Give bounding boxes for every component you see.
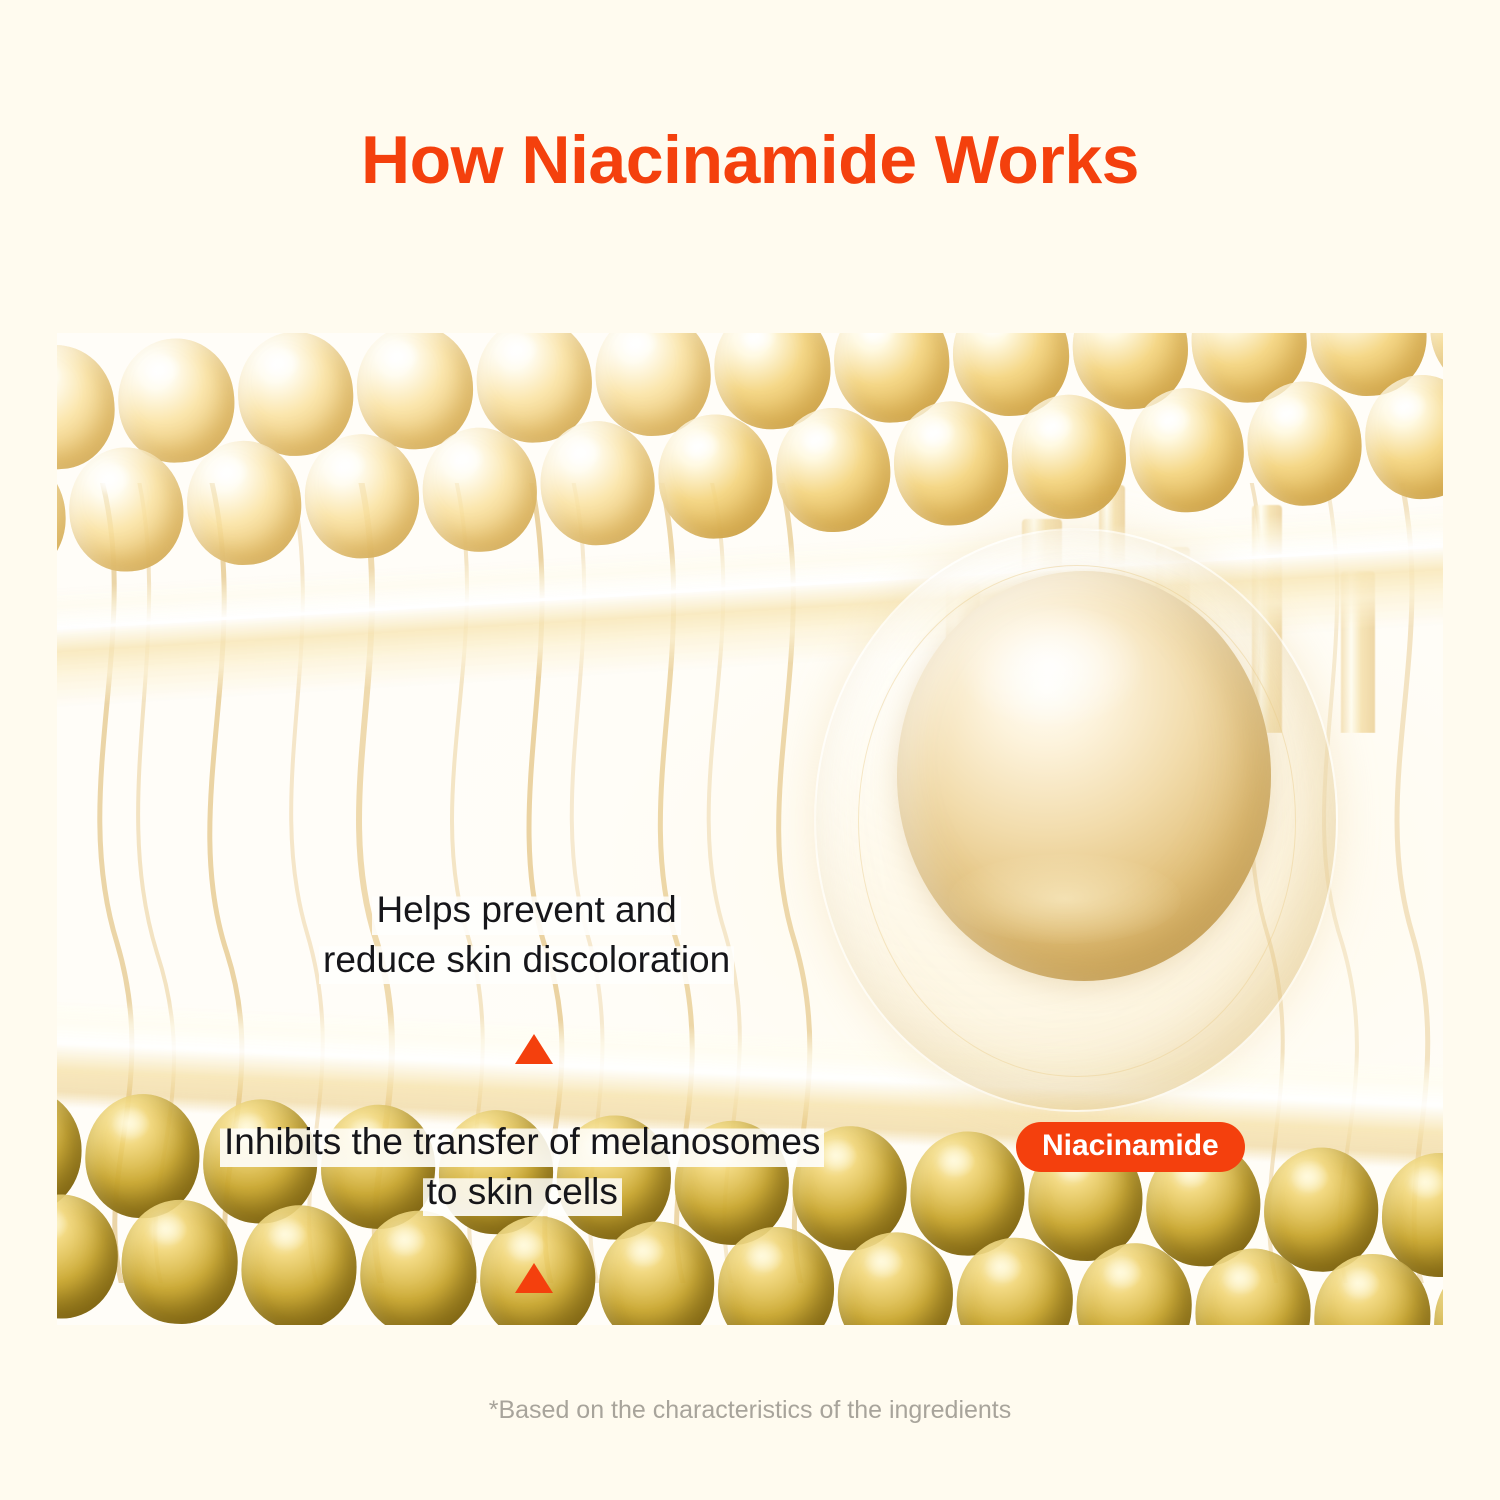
callout-line: Helps prevent and (372, 885, 680, 935)
footnote-disclaimer: *Based on the characteristics of the ing… (0, 1396, 1500, 1425)
niacinamide-label-badge: Niacinamide (1016, 1122, 1245, 1172)
callout-prevent-discoloration: Helps prevent and reduce skin discolorat… (319, 885, 734, 984)
niacinamide-droplet (897, 571, 1271, 981)
callout-line: reduce skin discoloration (319, 935, 734, 985)
arrow-up-icon (515, 1263, 553, 1293)
page-title: How Niacinamide Works (0, 126, 1500, 194)
arrow-up-icon (515, 1034, 553, 1064)
callout-line: to skin cells (423, 1167, 622, 1217)
illustration-panel: Niacinamide Helps prevent and reduce ski… (57, 333, 1443, 1325)
callout-line: Inhibits the transfer of melanosomes (220, 1117, 824, 1167)
callout-inhibit-melanosome-transfer: Inhibits the transfer of melanosomes to … (220, 1117, 824, 1216)
